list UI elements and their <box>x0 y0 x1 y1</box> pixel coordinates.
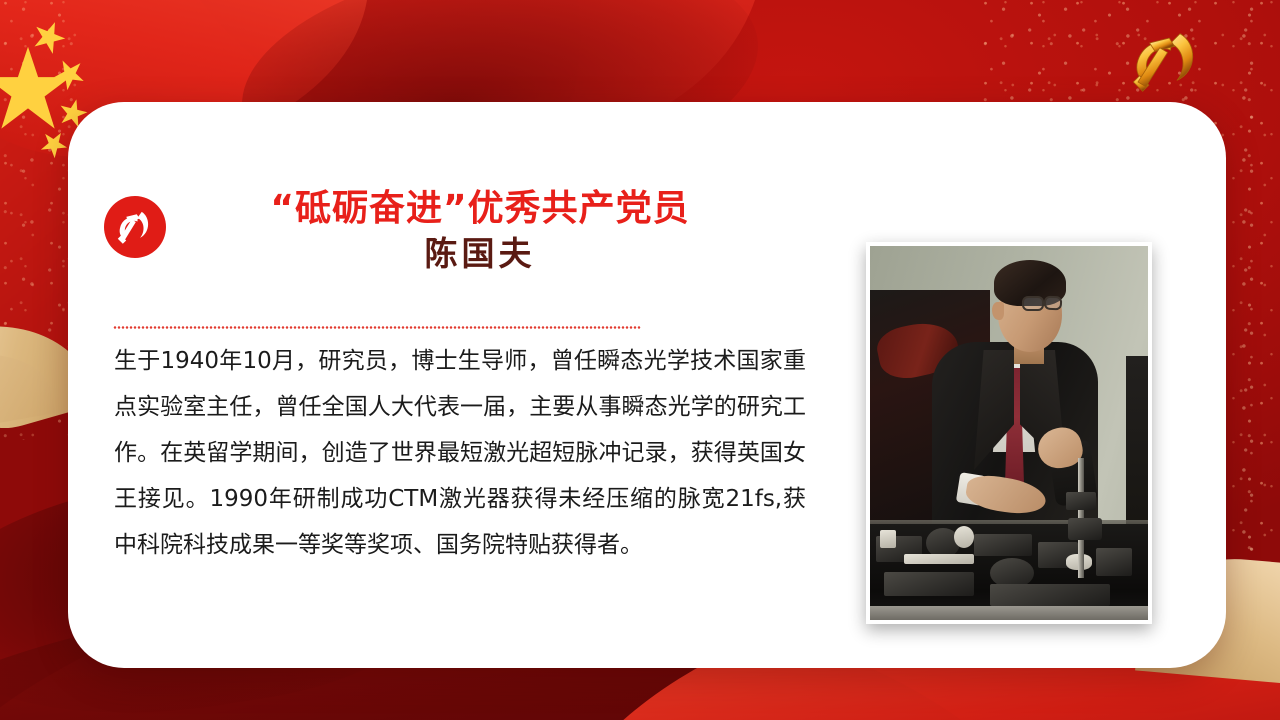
portrait-photo-frame <box>866 242 1152 624</box>
photo-optic-10 <box>884 572 974 596</box>
photo-optic-11 <box>990 584 1110 606</box>
hammer-sickle-circle-icon <box>104 196 166 258</box>
photo-optical-bench <box>870 524 1148 620</box>
photo-optic-5 <box>974 534 1032 556</box>
biography-text: 生于1940年10月，研究员，博士生导师，曾任瞬态光学技术国家重点实验室主任，曾… <box>114 338 806 568</box>
photo-person-glasses-right <box>1044 296 1063 311</box>
photo-optic-9 <box>1096 548 1132 576</box>
content-card: “砥砺奋进”优秀共产党员 陈国夫 生于1940年10月，研究员，博士生导师，曾任… <box>68 102 1226 668</box>
biography-paragraph: 生于1940年10月，研究员，博士生导师，曾任瞬态光学技术国家重点实验室主任，曾… <box>114 338 806 568</box>
photo-person-glasses-left <box>1022 296 1044 311</box>
person-name: 陈国夫 <box>172 235 788 273</box>
dotted-divider <box>113 326 641 329</box>
photo-optic-4 <box>954 526 974 548</box>
page-title: “砥砺奋进”优秀共产党员 <box>172 188 788 229</box>
hammer-sickle-gold-icon <box>1118 26 1214 96</box>
card-header: “砥砺奋进”优秀共产党员 陈国夫 <box>98 188 788 273</box>
portrait-photo <box>870 246 1148 620</box>
photo-optic-2 <box>880 530 896 548</box>
photo-optic-rail <box>904 554 974 564</box>
title-block: “砥砺奋进”优秀共产党员 陈国夫 <box>172 188 788 273</box>
photo-person-ear <box>992 302 1004 320</box>
photo-optic-mount <box>1066 492 1096 510</box>
photo-optic-mount-2 <box>1068 518 1102 540</box>
photo-bench-front <box>870 606 1148 620</box>
